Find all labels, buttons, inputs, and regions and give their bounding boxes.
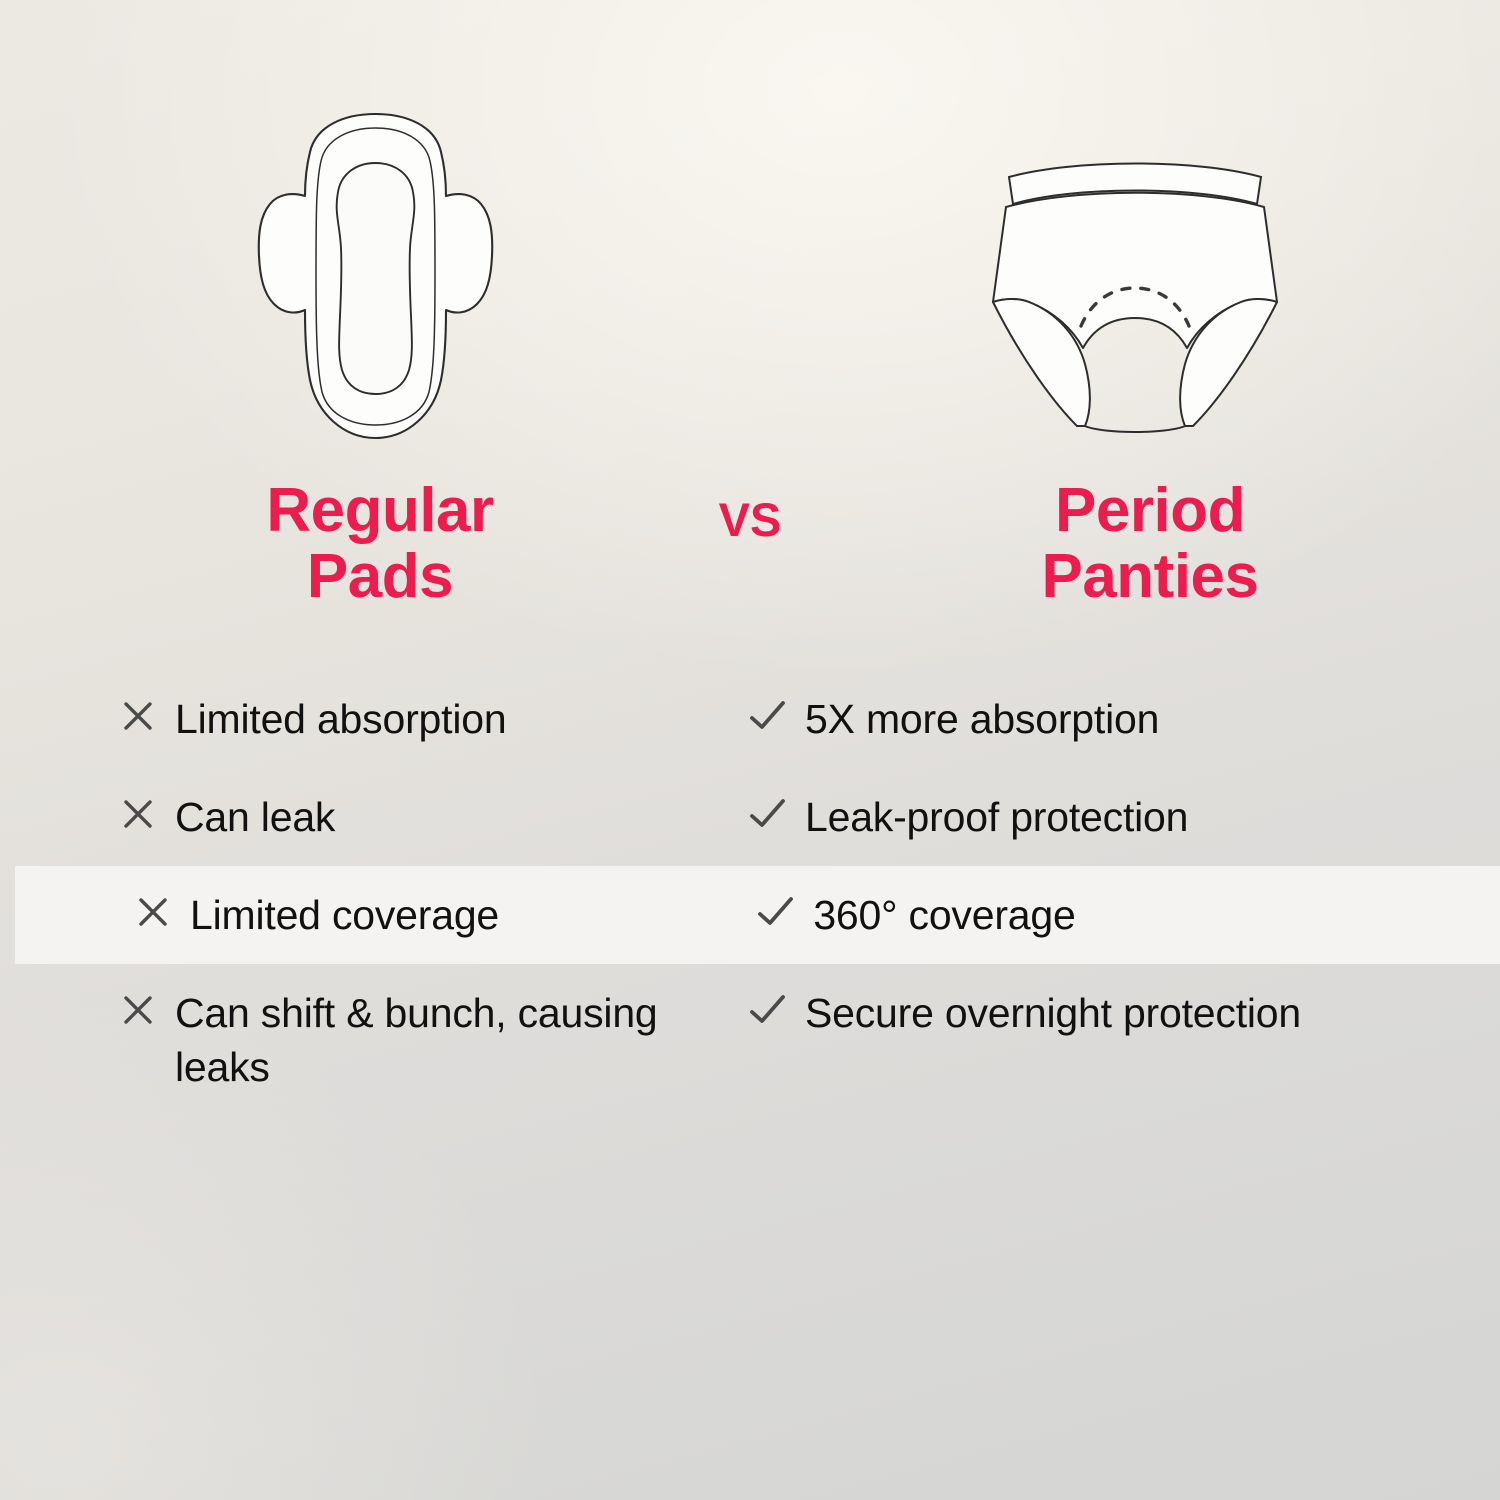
heading-period-panties: Period Panties	[890, 478, 1410, 609]
feature-text: Leak-proof protection	[805, 790, 1188, 844]
heading-right-line2: Panties	[890, 544, 1410, 610]
feature-text: Can leak	[175, 790, 335, 844]
heading-left-line2: Pads	[120, 544, 640, 610]
feature-text: 360° coverage	[813, 888, 1075, 942]
check-icon	[748, 988, 788, 1032]
comparison-cell-left: Can shift & bunch, causing leaks	[0, 964, 720, 1116]
headings-row: Regular Pads VS Period Panties	[0, 470, 1500, 630]
comparison-row: Limited coverage360° coverage	[15, 866, 1500, 964]
comparison-cell-right: Leak-proof protection	[720, 768, 1500, 866]
illustration-row	[0, 0, 1500, 460]
heading-right-line1: Period	[890, 478, 1410, 544]
comparison-infographic: Regular Pads VS Period Panties Limited a…	[0, 0, 1500, 1500]
feature-text: 5X more absorption	[805, 692, 1159, 746]
comparison-cell-left: Can leak	[0, 768, 720, 866]
check-icon	[756, 890, 796, 934]
comparison-cell-right: 5X more absorption	[720, 670, 1500, 768]
cross-icon	[118, 988, 158, 1032]
sanitary-pad-illustration	[248, 108, 503, 448]
comparison-cell-right: Secure overnight protection	[720, 964, 1500, 1062]
comparison-cell-left: Limited absorption	[0, 670, 720, 768]
heading-regular-pads: Regular Pads	[120, 478, 640, 609]
vs-label: VS	[660, 492, 840, 547]
feature-text: Can shift & bunch, causing leaks	[175, 986, 720, 1094]
cross-icon	[118, 694, 158, 738]
period-panty-illustration	[965, 150, 1305, 440]
feature-text: Limited coverage	[190, 888, 499, 942]
comparison-cell-right: 360° coverage	[728, 866, 1500, 964]
feature-text: Secure overnight protection	[805, 986, 1301, 1040]
comparison-row: Can shift & bunch, causing leaksSecure o…	[0, 964, 1500, 1116]
feature-text: Limited absorption	[175, 692, 506, 746]
comparison-row: Can leakLeak-proof protection	[0, 768, 1500, 866]
comparison-row: Limited absorption5X more absorption	[0, 670, 1500, 768]
comparison-cell-left: Limited coverage	[15, 866, 728, 964]
check-icon	[748, 694, 788, 738]
comparison-rows: Limited absorption5X more absorptionCan …	[0, 670, 1500, 1117]
cross-icon	[118, 792, 158, 836]
heading-left-line1: Regular	[120, 478, 640, 544]
cross-icon	[133, 890, 173, 934]
check-icon	[748, 792, 788, 836]
